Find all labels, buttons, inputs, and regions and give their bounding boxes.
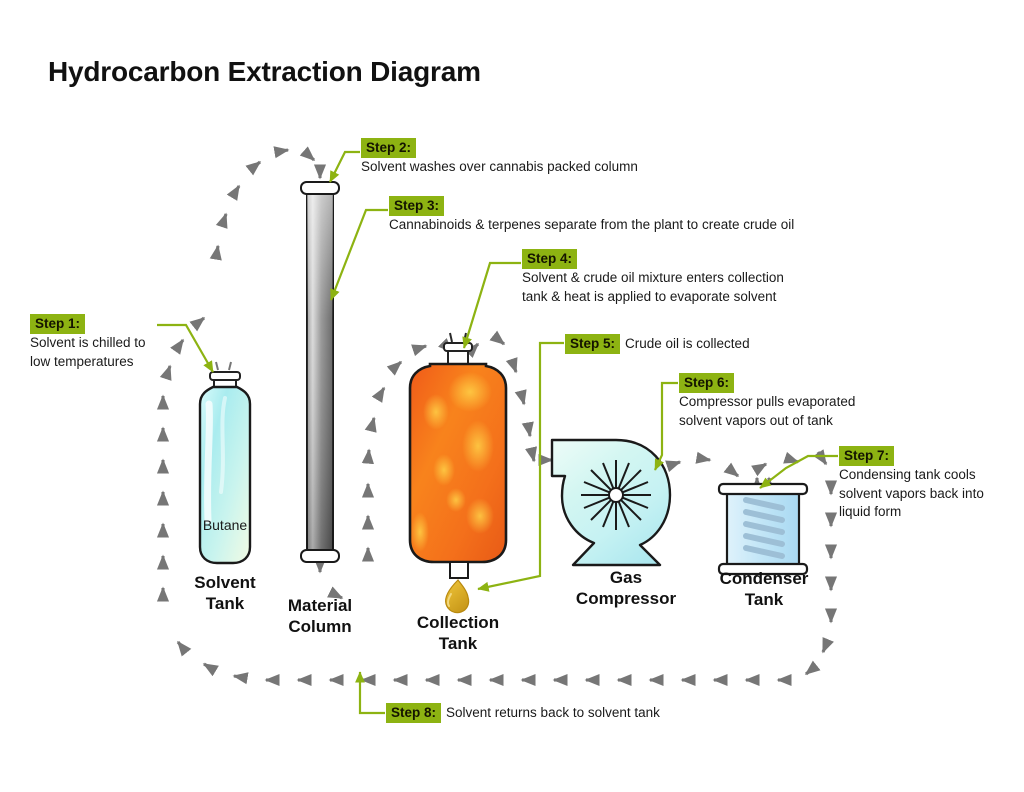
leader-step-8 (360, 672, 385, 713)
step-8-body: Solvent returns back to solvent tank (446, 704, 660, 722)
callout-step-5[interactable]: Step 5:Crude oil is collected (565, 334, 750, 354)
collection-tank-graphic (410, 333, 506, 613)
step-1-tag: Step 1: (30, 314, 85, 334)
step-1-body: Solvent is chilled to low temperatures (30, 334, 146, 371)
step-7-body: Condensing tank cools solvent vapors bac… (839, 466, 984, 521)
leader-step-1 (157, 325, 213, 372)
callout-step-6[interactable]: Step 6: Compressor pulls evaporated solv… (679, 373, 855, 430)
condenser-tank-label: Condenser Tank (700, 568, 828, 610)
step-5-body: Crude oil is collected (625, 335, 750, 353)
step-4-tag: Step 4: (522, 249, 577, 269)
step-2-line-1: Solvent washes over cannabis packed colu… (361, 158, 638, 176)
collection-tank-label-line-2: Tank (398, 633, 518, 654)
gas-compressor-graphic (552, 440, 670, 565)
flow-arrows-left-riser (163, 318, 204, 600)
diagram-canvas: Hydrocarbon Extraction Diagram (0, 0, 1024, 792)
leader-step-4 (464, 263, 521, 348)
step-3-body: Cannabinoids & terpenes separate from th… (389, 216, 794, 234)
callout-step-1[interactable]: Step 1: Solvent is chilled to low temper… (30, 314, 146, 371)
condenser-tank-graphic (719, 484, 807, 574)
solvent-tank-inner-label: Butane (200, 517, 250, 533)
callout-step-7[interactable]: Step 7: Condensing tank cools solvent va… (839, 446, 984, 521)
step-5-tag: Step 5: (565, 334, 620, 354)
step-3-tag: Step 3: (389, 196, 444, 216)
material-column-label: Material Column (260, 595, 380, 637)
condenser-tank-label-line-2: Tank (700, 589, 828, 610)
step-6-line-1: Compressor pulls evaporated (679, 393, 855, 411)
step-7-line-1: Condensing tank cools (839, 466, 984, 484)
step-1-line-1: Solvent is chilled to (30, 334, 146, 352)
callout-step-8[interactable]: Step 8:Solvent returns back to solvent t… (386, 703, 660, 723)
material-column-graphic (301, 182, 339, 562)
step-4-line-1: Solvent & crude oil mixture enters colle… (522, 269, 784, 287)
gas-compressor-label: Gas Compressor (558, 567, 694, 609)
callout-step-3[interactable]: Step 3: Cannabinoids & terpenes separate… (389, 196, 794, 235)
flow-arrows-column-foot (320, 560, 342, 598)
step-4-line-2: tank & heat is applied to evaporate solv… (522, 288, 784, 306)
callout-step-4[interactable]: Step 4: Solvent & crude oil mixture ente… (522, 249, 784, 306)
step-7-tag: Step 7: (839, 446, 894, 466)
leader-step-6 (655, 383, 678, 470)
leader-step-2 (330, 152, 360, 182)
diagram-graphics (0, 0, 1024, 792)
material-column-label-line-1: Material (260, 595, 380, 616)
gas-compressor-label-line-1: Gas (558, 567, 694, 588)
step-2-tag: Step 2: (361, 138, 416, 158)
step-6-tag: Step 6: (679, 373, 734, 393)
flow-arrows-right-descender (806, 452, 831, 674)
collection-tank-label-line-1: Collection (398, 612, 518, 633)
step-7-line-2: solvent vapors back into (839, 485, 984, 503)
step-6-body: Compressor pulls evaporated solvent vapo… (679, 393, 855, 430)
step-3-line-1: Cannabinoids & terpenes separate from th… (389, 216, 794, 234)
gas-compressor-label-line-2: Compressor (558, 588, 694, 609)
vapor-ticks-collection (450, 333, 466, 342)
step-6-line-2: solvent vapors out of tank (679, 412, 855, 430)
collection-tank-label: Collection Tank (398, 612, 518, 654)
step-7-line-3: liquid form (839, 503, 984, 521)
callout-step-2[interactable]: Step 2: Solvent washes over cannabis pac… (361, 138, 638, 177)
material-column-label-line-2: Column (260, 616, 380, 637)
leader-step-3 (331, 210, 388, 300)
vapor-ticks-solvent (216, 362, 231, 370)
step-8-tag: Step 8: (386, 703, 441, 723)
solvent-tank-label-line-1: Solvent (165, 572, 285, 593)
flow-arrows-top-left-arc (216, 150, 320, 258)
step-4-body: Solvent & crude oil mixture enters colle… (522, 269, 784, 306)
step-1-line-2: low temperatures (30, 353, 146, 371)
condenser-tank-label-line-1: Condenser (700, 568, 828, 589)
step-2-body: Solvent washes over cannabis packed colu… (361, 158, 638, 176)
